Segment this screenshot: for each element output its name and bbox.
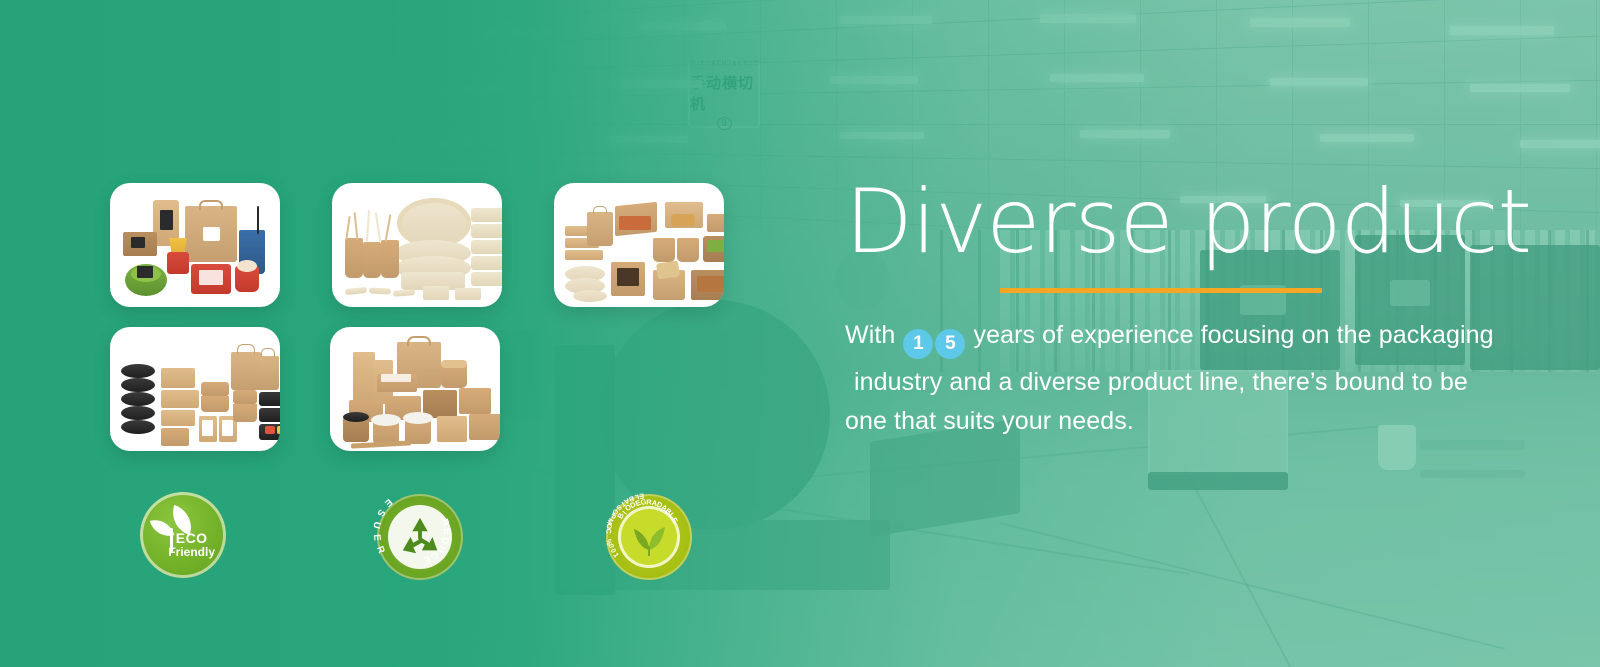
years-badge-2: 5 <box>935 329 965 359</box>
eco-friendly-label: ECO Friendly <box>168 531 215 558</box>
subtext-prefix: With <box>845 321 895 349</box>
product-card-bagasse-tableware[interactable] <box>332 183 502 307</box>
product-card-fast-food-packaging[interactable] <box>110 183 280 307</box>
hero-subtext: With 15 years of experience focusing on … <box>845 319 1545 437</box>
badge-biodegradable[interactable]: BIODEGRADABLE100% COMPOSTABLE <box>606 494 692 580</box>
biodegradable-circular-text: BIODEGRADABLE100% COMPOSTABLE <box>606 494 692 580</box>
recycle-circular-text: REDUCEREUSE <box>377 494 463 580</box>
hero-banner: 中山市包装机械设备有限公司 手动横切机 9 <box>0 0 1600 667</box>
hero-text-block: Diverse product With 15 years of experie… <box>845 178 1545 437</box>
badge-recycle-reduce-reuse[interactable]: REDUCEREUSE <box>377 494 463 580</box>
years-badge-1: 1 <box>903 329 933 359</box>
subtext-line-1-rest: years of experience focusing on the pack… <box>974 321 1494 349</box>
eco-line-2: Friendly <box>168 546 215 558</box>
product-card-kraft-cups-and-bags[interactable] <box>330 327 500 451</box>
subtext-line-1: With 15 years of experience focusing on … <box>845 321 1494 349</box>
product-card-grid <box>110 183 740 451</box>
page-title: Diverse product <box>845 178 1545 266</box>
product-card-kraft-takeaway-boxes[interactable] <box>554 183 724 307</box>
subtext-line-2: industry and a diverse product line, the… <box>845 366 1545 398</box>
eco-certification-badges: ECO Friendly REDUCEREUSE <box>140 492 740 592</box>
product-card-meal-prep-containers[interactable] <box>110 327 280 451</box>
eco-line-1: ECO <box>168 531 215 545</box>
subtext-line-3: one that suits your needs. <box>845 405 1545 437</box>
title-underline-rule <box>1000 288 1322 293</box>
badge-eco-friendly[interactable]: ECO Friendly <box>140 492 226 578</box>
